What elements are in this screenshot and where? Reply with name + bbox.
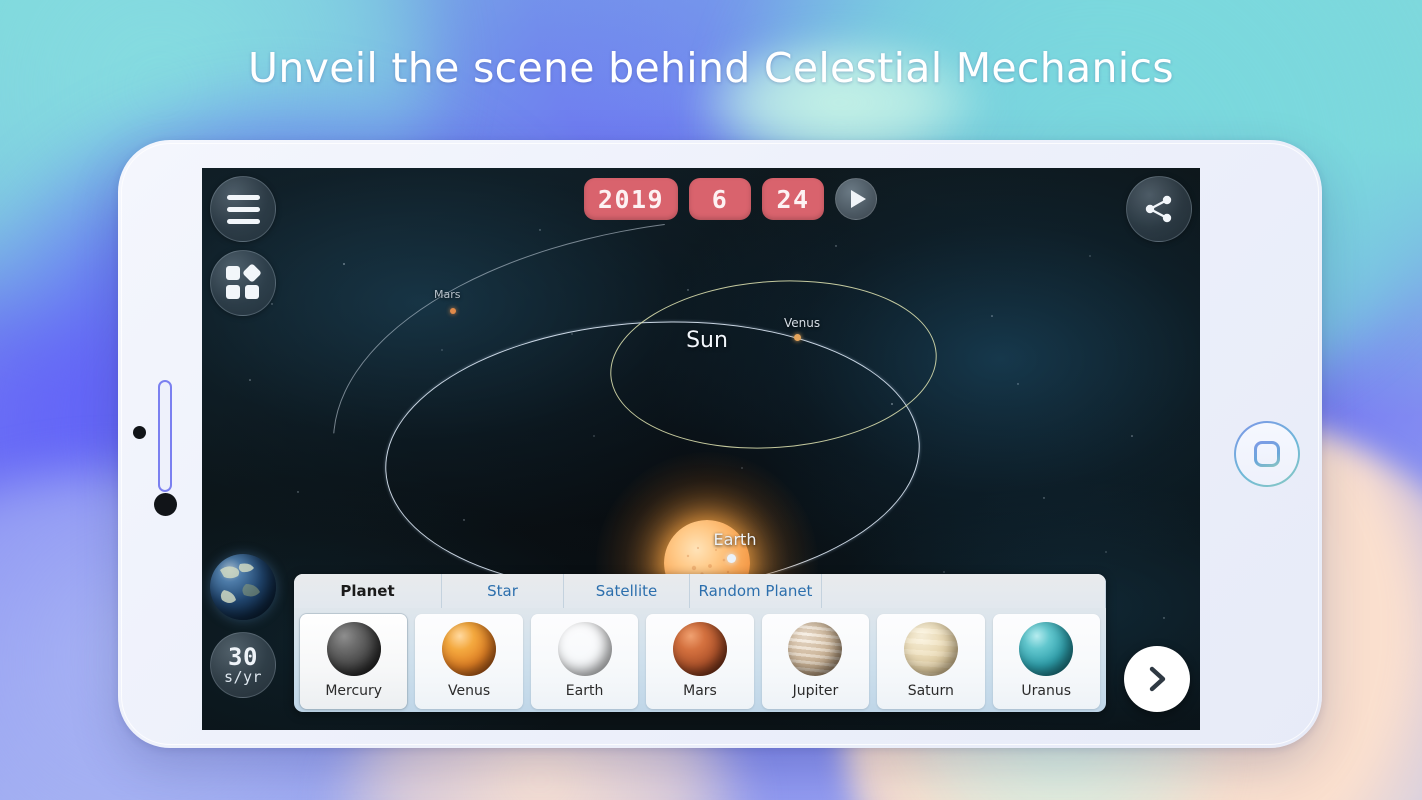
apps-grid-icon bbox=[226, 266, 260, 300]
planet-sphere-mars bbox=[673, 622, 727, 676]
sun-label: Sun bbox=[622, 328, 792, 353]
planet-card-label: Saturn bbox=[908, 683, 954, 699]
apps-grid-button[interactable] bbox=[210, 250, 276, 316]
year-field[interactable]: 2019 bbox=[584, 178, 678, 220]
phone-mockup: Sun Mars Venus Earth 2019 6 24 bbox=[118, 140, 1322, 748]
planet-sphere-uranus bbox=[1019, 622, 1073, 676]
phone-screen: Sun Mars Venus Earth 2019 6 24 bbox=[202, 168, 1200, 730]
next-button[interactable] bbox=[1124, 646, 1190, 712]
planet-card-label: Jupiter bbox=[793, 683, 839, 699]
earth-continents bbox=[210, 554, 276, 620]
planet-card-list: Mercury Venus Earth Mars Jupiter bbox=[294, 608, 1106, 709]
tab-satellite[interactable]: Satellite bbox=[564, 574, 690, 608]
planet-label-venus: Venus bbox=[784, 316, 820, 330]
play-icon bbox=[851, 190, 866, 208]
planet-card-label: Uranus bbox=[1021, 683, 1071, 699]
planet-card-label: Mars bbox=[683, 683, 717, 699]
share-button[interactable] bbox=[1126, 176, 1192, 242]
planet-card-mars[interactable]: Mars bbox=[646, 614, 753, 709]
planet-label-earth: Earth bbox=[702, 530, 768, 549]
volume-rocker-button[interactable] bbox=[158, 380, 172, 492]
home-square-icon bbox=[1254, 441, 1280, 467]
planet-sphere-mercury bbox=[327, 622, 381, 676]
home-button[interactable] bbox=[1234, 421, 1300, 487]
planet-dot-earth[interactable] bbox=[727, 554, 736, 563]
earth-globe-thumbnail[interactable] bbox=[210, 554, 276, 620]
planet-card-label: Mercury bbox=[325, 683, 382, 699]
share-icon bbox=[1142, 192, 1176, 226]
planet-sphere-saturn bbox=[904, 622, 958, 676]
day-field[interactable]: 24 bbox=[762, 178, 824, 220]
tab-star[interactable]: Star bbox=[442, 574, 564, 608]
date-control-bar: 2019 6 24 bbox=[584, 178, 877, 220]
planet-card-uranus[interactable]: Uranus bbox=[993, 614, 1100, 709]
month-field[interactable]: 6 bbox=[689, 178, 751, 220]
hamburger-menu-icon bbox=[227, 195, 260, 224]
tab-random-planet[interactable]: Random Planet bbox=[690, 574, 822, 608]
chevron-right-icon bbox=[1142, 664, 1172, 694]
planet-sphere-venus bbox=[442, 622, 496, 676]
speed-value: 30 bbox=[228, 645, 258, 669]
planet-card-saturn[interactable]: Saturn bbox=[877, 614, 984, 709]
planet-card-earth[interactable]: Earth bbox=[531, 614, 638, 709]
camera-dot bbox=[154, 493, 177, 516]
planet-card-label: Earth bbox=[566, 683, 604, 699]
planet-card-label: Venus bbox=[448, 683, 490, 699]
play-button[interactable] bbox=[835, 178, 877, 220]
planet-card-mercury[interactable]: Mercury bbox=[300, 614, 407, 709]
planet-card-venus[interactable]: Venus bbox=[415, 614, 522, 709]
planet-sphere-jupiter bbox=[788, 622, 842, 676]
planet-dot-mars[interactable] bbox=[450, 308, 456, 314]
sensor-dot-small bbox=[133, 426, 146, 439]
planet-card-jupiter[interactable]: Jupiter bbox=[762, 614, 869, 709]
planet-label-mars: Mars bbox=[434, 288, 461, 301]
planet-dot-venus[interactable] bbox=[794, 334, 801, 341]
speed-unit: s/yr bbox=[224, 670, 262, 685]
body-selector-panel: Planet Star Satellite Random Planet Merc… bbox=[294, 574, 1106, 712]
tab-planet[interactable]: Planet bbox=[294, 574, 442, 608]
tab-filler bbox=[822, 574, 1106, 608]
page-headline: Unveil the scene behind Celestial Mechan… bbox=[0, 44, 1422, 92]
planet-sphere-earth bbox=[558, 622, 612, 676]
selector-tabs: Planet Star Satellite Random Planet bbox=[294, 574, 1106, 608]
speed-button[interactable]: 30 s/yr bbox=[210, 632, 276, 698]
menu-button[interactable] bbox=[210, 176, 276, 242]
